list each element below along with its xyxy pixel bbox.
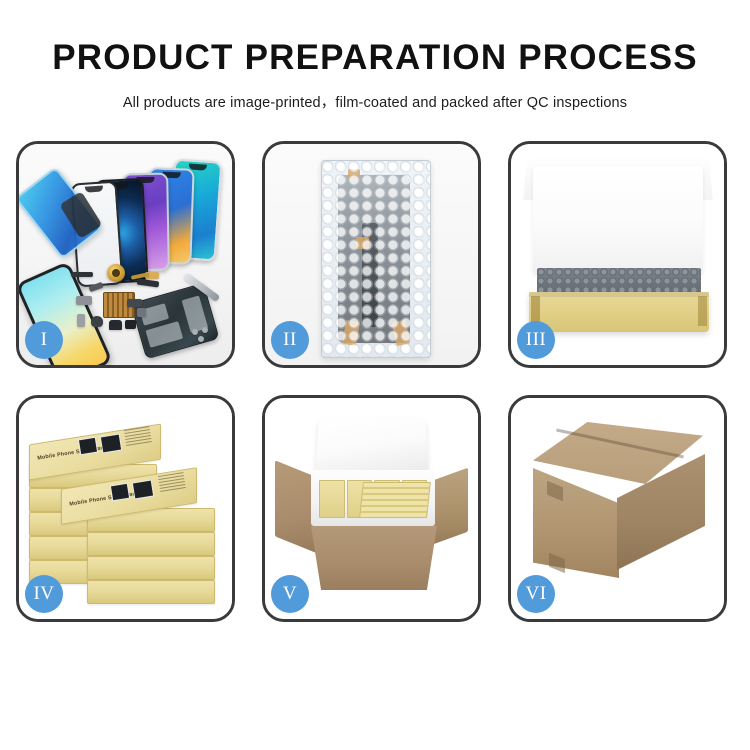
notch-icon xyxy=(85,186,103,193)
spare-part-icon xyxy=(127,299,142,307)
process-step-4: Mobile Phone Spare Parts Mobile Phone Sp… xyxy=(16,395,235,622)
process-step-grid: I II III xyxy=(16,141,728,622)
step-badge-4: IV xyxy=(25,575,63,613)
foam-lid-icon xyxy=(315,418,428,474)
yellow-box-icon xyxy=(319,480,345,518)
page-header: PRODUCT PREPARATION PROCESS All products… xyxy=(0,0,750,112)
box-edge-icon xyxy=(698,296,707,326)
box-artwork-swatch xyxy=(78,437,98,456)
yellow-box-body-icon xyxy=(529,292,709,332)
tape-icon xyxy=(348,169,360,178)
bubble-wrap-bag-icon xyxy=(321,160,431,358)
process-step-1: I xyxy=(16,141,235,368)
page-subtitle: All products are image-printed，film-coat… xyxy=(0,91,750,112)
step-badge-1: I xyxy=(25,321,63,359)
process-step-6: VI xyxy=(508,395,727,622)
step-badge-5: V xyxy=(271,575,309,613)
spare-part-icon xyxy=(91,316,103,327)
carton-body-icon xyxy=(311,526,437,590)
yellow-boxes-stack-icon xyxy=(359,482,431,518)
stacked-box-icon xyxy=(87,580,215,604)
spare-part-icon xyxy=(125,320,136,329)
page-title: PRODUCT PREPARATION PROCESS xyxy=(0,40,750,77)
spare-part-icon xyxy=(77,314,85,327)
white-foam-sheet-icon xyxy=(533,166,703,274)
screws-icon xyxy=(192,327,216,343)
spare-part-icon xyxy=(109,320,122,330)
spare-part-icon xyxy=(76,296,92,305)
spare-part-icon xyxy=(71,272,93,277)
process-step-2: II xyxy=(262,141,481,368)
step-badge-6: VI xyxy=(517,575,555,613)
step-badge-3: III xyxy=(517,321,555,359)
housing-detail-icon xyxy=(145,321,183,348)
speaker-coil-icon xyxy=(107,264,125,282)
step-badge-2: II xyxy=(271,321,309,359)
box-artwork-swatch xyxy=(110,483,130,502)
process-step-5: V xyxy=(262,395,481,622)
process-step-3: III xyxy=(508,141,727,368)
stacked-box-icon xyxy=(87,556,215,580)
stacked-box-icon xyxy=(87,532,215,556)
tape-icon xyxy=(356,237,369,249)
spare-part-icon xyxy=(137,308,146,317)
notch-icon xyxy=(189,163,208,170)
box-artwork-swatch xyxy=(132,480,154,500)
box-artwork-swatch xyxy=(100,434,122,454)
